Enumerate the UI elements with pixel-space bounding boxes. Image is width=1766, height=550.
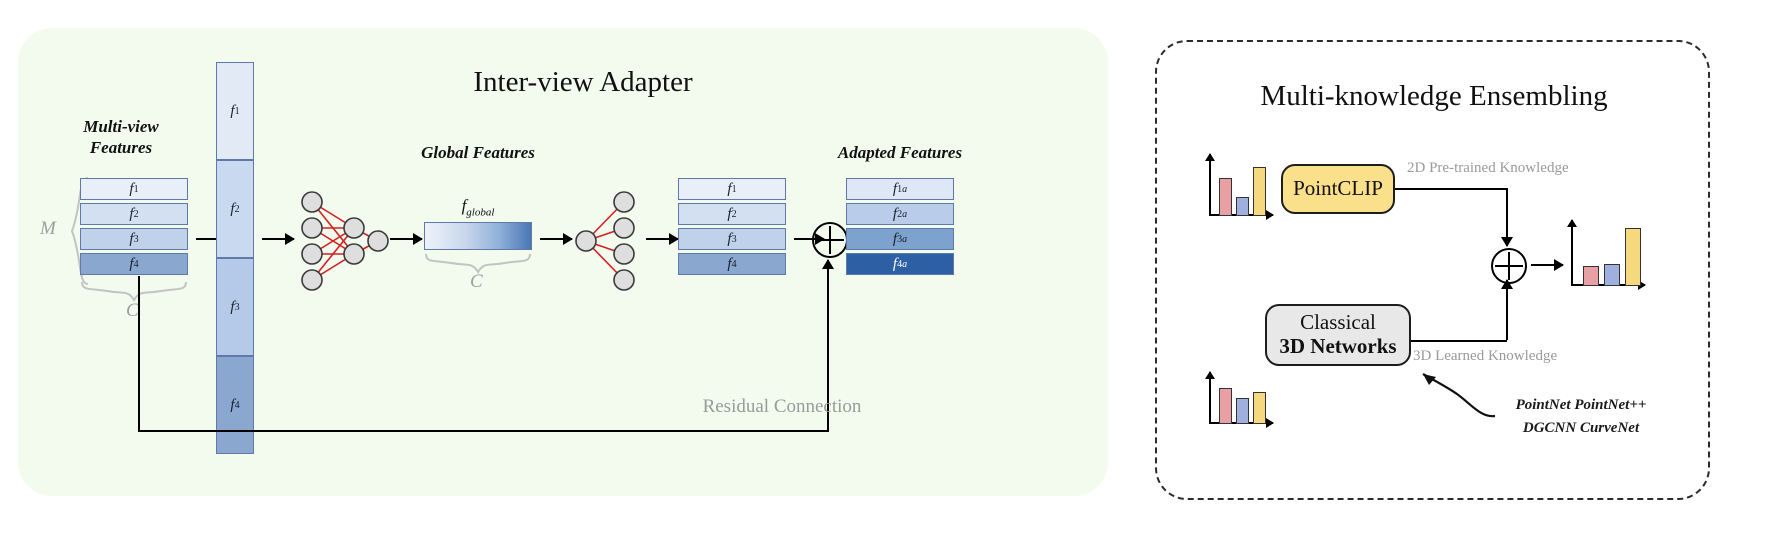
ensembled-output-chart	[1571, 220, 1647, 286]
2d-knowledge-label: 2D Pre-trained Knowledge	[1407, 160, 1569, 177]
chart-y-axis	[1209, 372, 1211, 424]
global-feature-label: fglobal	[462, 196, 495, 218]
dim-c-global-label: C	[470, 271, 483, 293]
concat-feature-segment-3: f3	[216, 258, 254, 356]
mlp-encoder-graph	[296, 188, 386, 293]
inter-view-adapter-panel: Inter-view Adapter Multi-viewFeatures M …	[18, 28, 1108, 496]
adapted-features-caption: Adapted Features	[838, 142, 962, 163]
multiview-feature-block-4: f4	[80, 253, 188, 275]
c-brace-left-icon	[80, 280, 188, 302]
adapted-feature-block-2: f2a	[846, 203, 954, 225]
ensemble-sum-operator	[1491, 248, 1527, 284]
network-names-list: PointNet PointNet++ DGCNN CurveNet	[1516, 394, 1647, 441]
chart-bar-3	[1253, 167, 1266, 216]
mlp-decoder-graph	[572, 188, 642, 293]
arrow-concat-to-mlp	[262, 238, 294, 240]
multi-knowledge-ensembling-panel: Multi-knowledge Ensembling PointCLIP 2D …	[1155, 40, 1710, 500]
chart-bar-2	[1604, 264, 1620, 286]
classical3d-input-chart	[1209, 372, 1275, 424]
classical-to-sum-arrow	[1506, 280, 1508, 340]
chart-bar-2	[1236, 398, 1249, 424]
chart-y-axis	[1209, 154, 1211, 216]
pointclip-label: PointCLIP	[1293, 177, 1383, 201]
expanded-feature-block-4: f4	[678, 253, 786, 275]
multiview-features-caption: Multi-viewFeatures	[83, 116, 159, 159]
classical-line-1: Classical	[1300, 311, 1376, 335]
residual-connection-label: Residual Connection	[703, 396, 862, 418]
adapted-feature-block-3: f3a	[846, 228, 954, 250]
chart-bar-3	[1253, 392, 1266, 424]
chart-bar-2	[1236, 197, 1249, 216]
networks-pointer-arrow-icon	[1409, 360, 1499, 422]
multiview-feature-block-1: f1	[80, 178, 188, 200]
diagram-canvas: Inter-view Adapter Multi-viewFeatures M …	[0, 0, 1766, 550]
multiview-feature-block-2: f2	[80, 203, 188, 225]
arrow-sum-to-output-chart	[1531, 264, 1563, 266]
concat-feature-segment-1: f1	[216, 62, 254, 160]
network-names-line-2: DGCNN CurveNet	[1516, 417, 1647, 440]
inter-view-adapter-title: Inter-view Adapter	[473, 66, 692, 99]
adapted-feature-block-4: f4a	[846, 253, 954, 275]
global-features-caption: Global Features	[421, 142, 535, 163]
classical-to-sum-horizontal	[1411, 340, 1507, 342]
expanded-feature-block-2: f2	[678, 203, 786, 225]
multiview-feature-block-3: f3	[80, 228, 188, 250]
dim-c-left-label: C	[126, 300, 139, 322]
arrow-decoder-to-expanded	[646, 238, 678, 240]
arrow-mlp-to-global	[390, 238, 422, 240]
residual-sum-operator	[812, 222, 848, 258]
concat-feature-segment-4: f4	[216, 356, 254, 454]
global-feature-bar	[424, 222, 532, 250]
dim-m-label: M	[40, 218, 56, 240]
concat-feature-segment-2: f2	[216, 160, 254, 258]
adapted-feature-block-1: f1a	[846, 178, 954, 200]
network-names-line-1: PointNet PointNet++	[1516, 394, 1647, 417]
chart-bar-3	[1625, 228, 1641, 286]
multi-knowledge-ensembling-title: Multi-knowledge Ensembling	[1260, 80, 1607, 113]
chart-bar-1	[1583, 266, 1599, 286]
chart-bar-1	[1219, 388, 1232, 424]
expanded-feature-block-3: f3	[678, 228, 786, 250]
classical-line-2: 3D Networks	[1279, 335, 1396, 359]
pointclip-to-sum-horizontal	[1395, 188, 1507, 190]
chart-y-axis	[1571, 220, 1573, 286]
expanded-feature-block-1: f1	[678, 178, 786, 200]
classical-3d-networks-box[interactable]: Classical 3D Networks	[1265, 304, 1411, 366]
pointclip-to-sum-arrow	[1506, 188, 1508, 246]
chart-bar-1	[1219, 178, 1232, 216]
residual-horizontal-segment	[138, 430, 828, 432]
residual-down-segment	[138, 276, 140, 432]
pointclip-box[interactable]: PointCLIP	[1281, 164, 1395, 214]
arrow-global-to-decoder	[540, 238, 572, 240]
pointclip-input-chart	[1209, 154, 1275, 216]
